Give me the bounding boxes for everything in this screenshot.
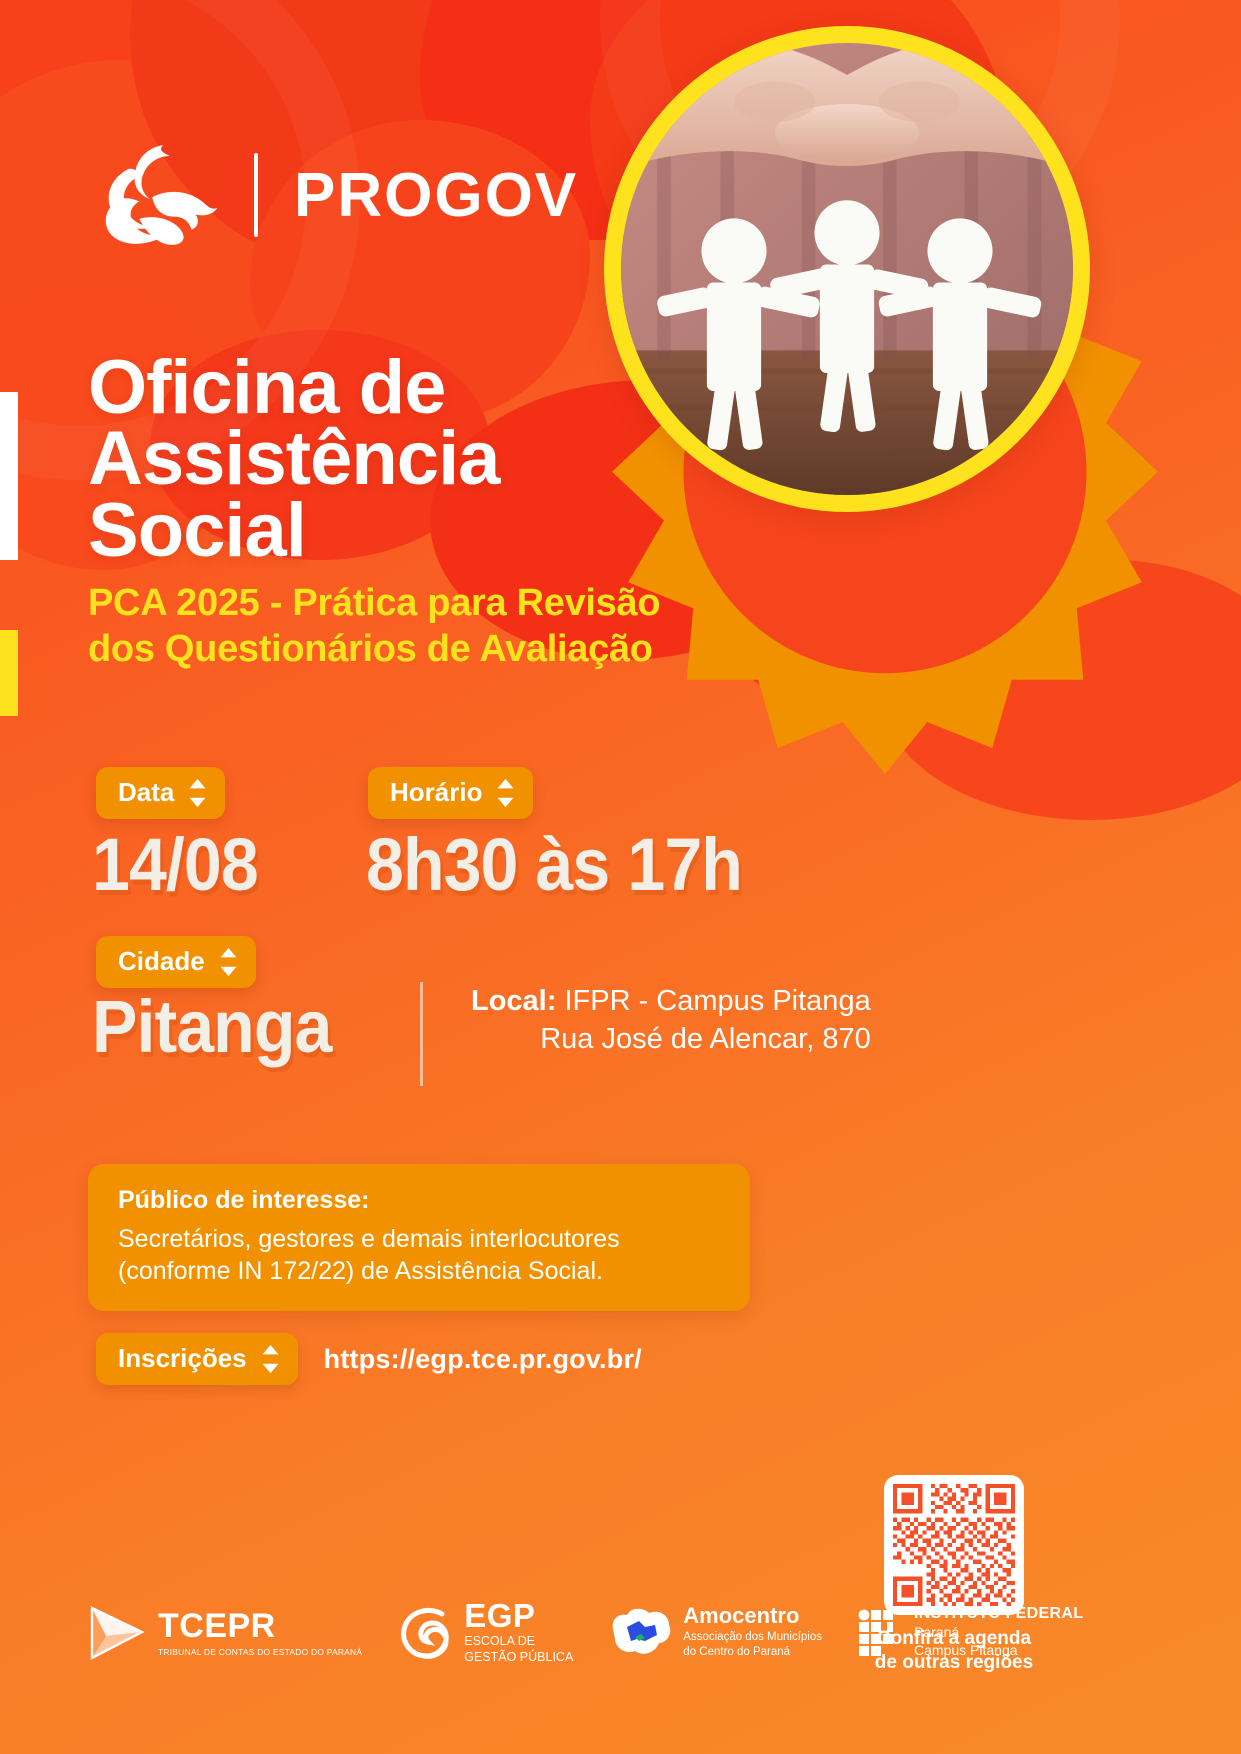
amocentro-sub-line-2: do Centro do Paraná — [683, 1645, 822, 1660]
amocentro-name: Amocentro — [683, 1605, 822, 1627]
chevron-up-down-icon — [261, 1344, 280, 1374]
parana-map-icon — [609, 1605, 673, 1661]
instituto-federal-grid-icon — [858, 1609, 904, 1657]
footer-logos: TCEPR TRIBUNAL DE CONTAS DO ESTADO DO PA… — [86, 1600, 1083, 1666]
page-title: Oficina de Assistência Social — [88, 352, 499, 566]
amocentro-sub-line-1: Associação dos Municípios — [683, 1630, 822, 1645]
chevron-up-down-icon — [496, 778, 515, 808]
qr-code-icon[interactable] — [884, 1475, 1024, 1615]
venue-block: Local: IFPR - Campus Pitanga Rua José de… — [420, 982, 871, 1086]
registration-badge-label: Inscrições — [118, 1343, 247, 1374]
title-line-1: Oficina de — [88, 352, 499, 423]
date-value: 14/08 — [92, 828, 258, 902]
egp-logo: EGP ESCOLA DE GESTÃO PÚBLICA — [398, 1600, 573, 1666]
egp-name: EGP — [464, 1600, 573, 1631]
tcepr-sub: TRIBUNAL DE CONTAS DO ESTADO DO PARANÁ — [158, 1647, 362, 1657]
ifpr-sub-line-1: Paraná — [914, 1624, 1083, 1642]
tcepr-logo: TCEPR TRIBUNAL DE CONTAS DO ESTADO DO PA… — [86, 1602, 362, 1664]
audience-line-2: (conforme IN 172/22) de Assistência Soci… — [118, 1255, 722, 1287]
progov-bird-icon — [96, 140, 226, 250]
egp-spiral-icon — [398, 1604, 454, 1662]
egp-sub-line-1: ESCOLA DE — [464, 1634, 573, 1650]
title-line-2: Assistência — [88, 423, 499, 494]
accent-bar-yellow — [0, 630, 18, 716]
subtitle-line-1: PCA 2025 - Prática para Revisão — [88, 580, 660, 626]
city-badge-label: Cidade — [118, 946, 205, 977]
egp-sub-line-2: GESTÃO PÚBLICA — [464, 1650, 573, 1666]
audience-title: Público de interesse: — [118, 1186, 722, 1215]
time-badge: Horário — [368, 767, 533, 819]
subtitle-line-2: dos Questionários de Avaliação — [88, 626, 660, 672]
poster: PROGOV Oficina de Assistência Social PCA… — [0, 0, 1241, 1754]
venue-line-1: Local: IFPR - Campus Pitanga — [471, 982, 871, 1020]
time-value: 8h30 às 17h — [366, 828, 742, 902]
venue-label: Local: — [471, 985, 556, 1017]
brand-name: PROGOV — [294, 160, 578, 231]
ifpr-logo: INSTITUTO FEDERAL Paraná Campus Pitanga — [858, 1606, 1083, 1660]
hero-photo — [604, 26, 1090, 512]
chevron-up-down-icon — [219, 947, 238, 977]
registration-badge[interactable]: Inscrições — [96, 1333, 298, 1385]
page-subtitle: PCA 2025 - Prática para Revisão dos Ques… — [88, 580, 660, 673]
venue-line-2: Rua José de Alencar, 870 — [471, 1020, 871, 1058]
date-badge: Data — [96, 767, 225, 819]
time-badge-label: Horário — [390, 777, 482, 808]
chevron-up-down-icon — [188, 778, 207, 808]
tcepr-triangle-icon — [86, 1602, 148, 1664]
tcepr-name: TCEPR — [158, 1609, 362, 1643]
audience-box: Público de interesse: Secretários, gesto… — [88, 1164, 750, 1311]
registration-url[interactable]: https://egp.tce.pr.gov.br/ — [324, 1344, 642, 1375]
amocentro-logo: Amocentro Associação dos Municípios do C… — [609, 1605, 822, 1661]
date-badge-label: Data — [118, 777, 174, 808]
venue-name: IFPR - Campus Pitanga — [564, 985, 870, 1017]
accent-bar-white — [0, 392, 18, 560]
ifpr-name: INSTITUTO FEDERAL — [914, 1606, 1083, 1622]
title-line-3: Social — [88, 495, 499, 566]
logo-divider — [254, 153, 258, 237]
city-badge: Cidade — [96, 936, 256, 988]
progov-logo: PROGOV — [96, 140, 578, 250]
ifpr-sub-line-2: Campus Pitanga — [914, 1642, 1083, 1660]
registration-row: Inscrições https://egp.tce.pr.gov.br/ — [96, 1333, 642, 1385]
city-value: Pitanga — [92, 990, 331, 1064]
audience-line-1: Secretários, gestores e demais interlocu… — [118, 1223, 722, 1255]
